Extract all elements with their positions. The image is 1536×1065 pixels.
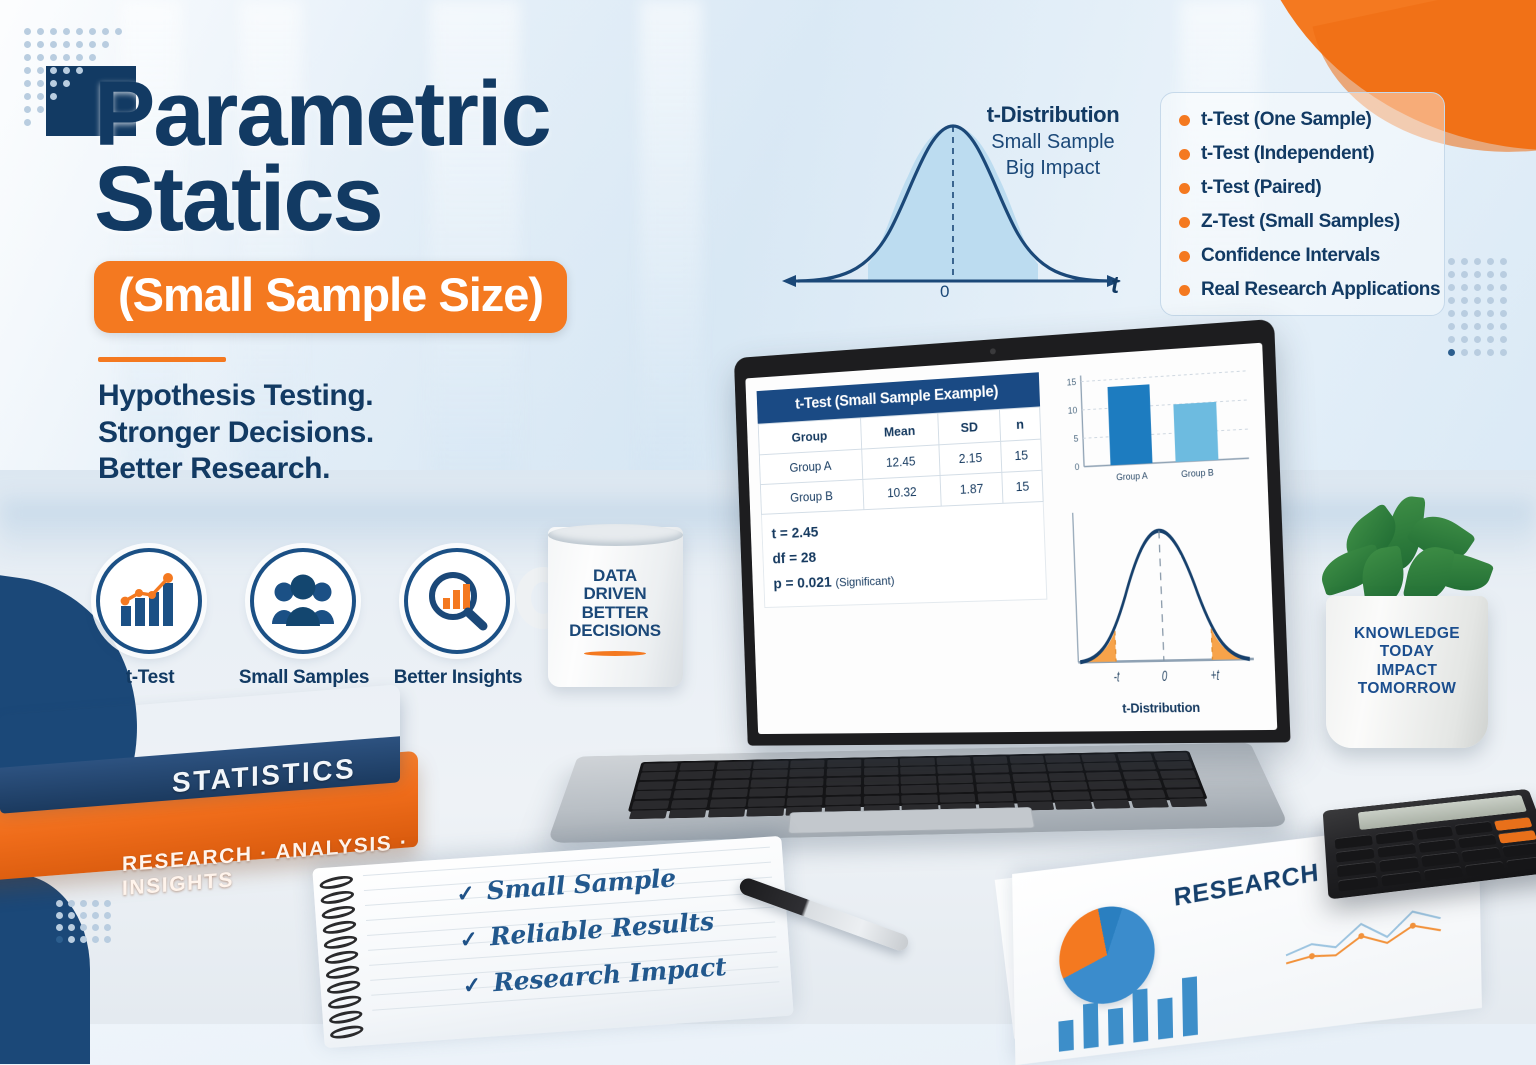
key[interactable] — [864, 776, 899, 785]
key[interactable] — [826, 777, 861, 786]
potted-plant: KNOWLEDGE TODAY IMPACT TOMORROW — [1300, 500, 1510, 770]
dot — [104, 912, 111, 919]
key[interactable] — [977, 793, 1014, 802]
cell-sd: 1.87 — [941, 472, 1003, 506]
key[interactable] — [1015, 792, 1052, 801]
key[interactable] — [748, 798, 785, 807]
report-bar — [1058, 1020, 1073, 1052]
key[interactable] — [1014, 782, 1051, 791]
stat-p-value: p = 0.021 (Significant) — [773, 567, 1040, 593]
dot — [1474, 258, 1481, 265]
key[interactable] — [670, 799, 708, 808]
key[interactable] — [1090, 790, 1128, 799]
dot — [1474, 297, 1481, 304]
spiral-ring — [319, 874, 355, 892]
calculator-key[interactable] — [1455, 821, 1493, 835]
cell-mean: 10.32 — [862, 475, 941, 509]
key[interactable] — [746, 807, 783, 816]
key[interactable] — [863, 795, 899, 804]
dot — [1461, 297, 1468, 304]
t-test-table: Group Mean SD n Group A 12.45 2.15 — [758, 406, 1044, 514]
key[interactable] — [864, 758, 898, 766]
spiral-ring — [326, 978, 362, 996]
dot — [1448, 271, 1455, 278]
spiral-ring — [320, 889, 356, 907]
hero-chart-zero-tick: 0 — [940, 282, 949, 302]
column-header: SD — [938, 409, 1000, 444]
key[interactable] — [753, 761, 788, 769]
dot — [89, 28, 96, 35]
dot — [1487, 336, 1494, 343]
orange-divider — [98, 357, 226, 362]
calculator-key[interactable] — [1337, 861, 1376, 877]
key[interactable] — [752, 770, 788, 778]
feature-list-item[interactable]: Real Research Applications — [1179, 279, 1432, 301]
laptop-base — [547, 743, 1289, 843]
dot — [76, 54, 83, 61]
key[interactable] — [1053, 791, 1090, 800]
key[interactable] — [634, 790, 672, 799]
bullet-icon — [1179, 251, 1190, 262]
dot — [115, 28, 122, 35]
tick-pos-t: +t — [1210, 666, 1220, 684]
dot — [56, 936, 63, 943]
dot — [50, 93, 57, 100]
dot — [102, 28, 109, 35]
column-header: Mean — [860, 413, 939, 449]
key[interactable] — [711, 789, 748, 798]
feature-label: t-Test (One Sample) — [1201, 109, 1371, 131]
group-comparison-bar-chart: 15 10 5 0 Group A Group B — [1049, 358, 1255, 498]
calculator-key[interactable] — [1375, 830, 1413, 844]
svg-text:Group B: Group B — [1181, 467, 1214, 480]
key[interactable] — [974, 765, 1010, 773]
report-bar — [1132, 988, 1148, 1042]
dot — [50, 67, 57, 74]
dot — [24, 106, 31, 113]
key[interactable] — [975, 774, 1011, 783]
checklist-label: Reliable Results — [489, 907, 715, 952]
icon-label: Small Samples — [228, 667, 380, 689]
key[interactable] — [1117, 753, 1153, 761]
check-icon: ✓ — [462, 972, 482, 999]
dot — [76, 67, 83, 74]
feature-label: Real Research Applications — [1201, 279, 1440, 301]
key[interactable] — [939, 793, 975, 802]
dot — [56, 900, 63, 907]
feature-list-item[interactable]: t-Test (Independent) — [1179, 143, 1432, 165]
key[interactable] — [1010, 764, 1046, 772]
key[interactable] — [1045, 755, 1081, 763]
svg-text:0: 0 — [1074, 461, 1079, 472]
key[interactable] — [1156, 761, 1193, 769]
dot — [24, 28, 31, 35]
notebook-checklist: ✓ Small Sample ✓ Reliable Results ✓ Rese… — [455, 860, 728, 1016]
dot — [104, 900, 111, 907]
dot — [1500, 284, 1507, 291]
dot — [1474, 271, 1481, 278]
dot — [1461, 284, 1468, 291]
bullet-icon — [1179, 285, 1190, 296]
calculator-key[interactable] — [1377, 843, 1416, 858]
laptop-lid: t-Test (Small Sample Example) Group Mean… — [734, 319, 1291, 746]
dot — [1500, 258, 1507, 265]
dot — [56, 924, 63, 931]
key[interactable] — [1166, 789, 1204, 798]
calculator-key[interactable] — [1461, 847, 1501, 862]
spiral-ring — [325, 963, 361, 981]
key[interactable] — [749, 788, 786, 797]
key[interactable] — [864, 767, 899, 775]
feature-label: Confidence Intervals — [1201, 245, 1380, 267]
key[interactable] — [714, 770, 750, 778]
dot — [68, 912, 75, 919]
dot — [24, 80, 31, 87]
calculator-key[interactable] — [1498, 829, 1536, 843]
calculator-key[interactable] — [1418, 838, 1457, 853]
pot-line-1: KNOWLEDGE — [1338, 625, 1476, 643]
key[interactable] — [632, 800, 670, 809]
page-title: Parametric Statics — [94, 72, 814, 241]
key[interactable] — [1009, 755, 1044, 763]
dot — [80, 912, 87, 919]
dot — [76, 41, 83, 48]
bullet-icon — [1179, 115, 1190, 126]
bullet-icon — [1179, 217, 1190, 228]
bullet-icon — [1179, 183, 1190, 194]
dot — [92, 924, 99, 931]
dot — [63, 54, 70, 61]
stat-p-number: p = 0.021 — [773, 574, 832, 592]
feature-list-item[interactable]: t-Test (Paired) — [1179, 177, 1432, 199]
key[interactable] — [825, 796, 861, 805]
cell-group: Group B — [760, 479, 863, 514]
key[interactable] — [900, 767, 935, 775]
key[interactable] — [1120, 762, 1157, 770]
calculator-key[interactable] — [1465, 861, 1506, 877]
key[interactable] — [1086, 772, 1123, 780]
dot — [37, 67, 44, 74]
key[interactable] — [938, 775, 974, 784]
cell-n: 15 — [1001, 439, 1042, 472]
magnifier-bar-chart-icon — [404, 548, 510, 654]
key[interactable] — [825, 786, 861, 795]
spiral-ring — [322, 918, 358, 936]
icon-item-better-insights: Better Insights — [404, 548, 512, 689]
dot — [50, 41, 57, 48]
dot — [1474, 349, 1481, 356]
dot — [92, 936, 99, 943]
calculator-key[interactable] — [1423, 865, 1463, 881]
key[interactable] — [1049, 772, 1085, 780]
notebook: ✓ Small Sample ✓ Reliable Results ✓ Rese… — [312, 836, 793, 1048]
report-bar — [1182, 976, 1198, 1036]
pot-line-4: TOMORROW — [1338, 680, 1476, 698]
t-test-card: t-Test (Small Sample Example) Group Mean… — [757, 372, 1052, 720]
dot — [1448, 310, 1455, 317]
tick-neg-t: -t — [1113, 668, 1120, 686]
key[interactable] — [1047, 763, 1083, 771]
spiral-ring — [323, 933, 359, 951]
key[interactable] — [901, 776, 936, 785]
key[interactable] — [642, 763, 679, 771]
report-bar — [1108, 1008, 1124, 1046]
report-line-chart — [1283, 893, 1463, 973]
key[interactable] — [900, 758, 935, 766]
spiral-ring — [329, 1023, 365, 1041]
icon-label: Better Insights — [382, 667, 534, 689]
calculator-key[interactable] — [1379, 856, 1419, 871]
dot — [1474, 323, 1481, 330]
dot — [68, 924, 75, 931]
dot — [1487, 258, 1494, 265]
dot — [1448, 349, 1455, 356]
dot — [80, 936, 87, 943]
tick-zero: 0 — [1161, 667, 1167, 685]
dot — [63, 41, 70, 48]
report-bar — [1083, 1003, 1099, 1049]
checklist-label: Research Impact — [492, 952, 727, 997]
dot — [37, 106, 44, 113]
dot — [1474, 284, 1481, 291]
key[interactable] — [677, 771, 714, 779]
dot — [76, 28, 83, 35]
key[interactable] — [1131, 799, 1169, 808]
calculator-key[interactable] — [1336, 848, 1375, 863]
dot — [1448, 284, 1455, 291]
dot — [92, 912, 99, 919]
dot — [89, 41, 96, 48]
dot — [1448, 336, 1455, 343]
dot — [104, 924, 111, 931]
key[interactable] — [751, 779, 787, 788]
calculator-key[interactable] — [1502, 842, 1536, 857]
key[interactable] — [787, 787, 823, 796]
laptop-trackpad[interactable] — [788, 807, 1035, 834]
dot — [1461, 336, 1468, 343]
notebook-spiral-rings — [319, 870, 369, 1044]
stat-t-value: t = 2.45 — [771, 514, 1038, 542]
key[interactable] — [937, 766, 972, 774]
dot — [1500, 297, 1507, 304]
key[interactable] — [1128, 789, 1166, 798]
key[interactable] — [827, 759, 862, 767]
spiral-ring — [321, 903, 357, 921]
key[interactable] — [976, 783, 1012, 792]
dot — [1474, 310, 1481, 317]
feature-list-card: t-Test (One Sample) t-Test (Independent)… — [1160, 92, 1445, 316]
key[interactable] — [1083, 763, 1119, 771]
svg-text:Group A: Group A — [1116, 470, 1148, 482]
key[interactable] — [673, 790, 710, 799]
dot — [92, 900, 99, 907]
dot — [68, 900, 75, 907]
feature-list-item[interactable]: Confidence Intervals — [1179, 245, 1432, 267]
dot — [1448, 258, 1455, 265]
svg-text:5: 5 — [1073, 433, 1078, 444]
key[interactable] — [788, 778, 824, 787]
key[interactable] — [707, 808, 745, 817]
key[interactable] — [863, 786, 899, 795]
dot — [1487, 349, 1494, 356]
plant-pot-text: KNOWLEDGE TODAY IMPACT TOMORROW — [1338, 625, 1476, 698]
dot — [1448, 297, 1455, 304]
icon-item-t-test: t-Test — [96, 548, 204, 689]
dot — [1461, 349, 1468, 356]
dot — [1461, 271, 1468, 278]
key[interactable] — [709, 798, 746, 807]
dot — [104, 936, 111, 943]
dot — [37, 54, 44, 61]
icon-label: t-Test — [96, 667, 204, 689]
dot — [1500, 349, 1507, 356]
hero-chart-subtitle-2: Big Impact — [978, 157, 1128, 180]
key[interactable] — [901, 794, 937, 803]
dot — [1487, 271, 1494, 278]
feature-label: t-Test (Paired) — [1201, 177, 1321, 199]
calculator-key[interactable] — [1494, 817, 1532, 831]
calculator-key[interactable] — [1506, 856, 1536, 871]
feature-label: Z-Test (Small Samples) — [1201, 211, 1400, 233]
cell-mean: 12.45 — [861, 445, 940, 480]
dot — [24, 54, 31, 61]
stat-df-value: df = 28 — [772, 540, 1039, 567]
dot — [1487, 310, 1494, 317]
dot — [37, 80, 44, 87]
dot — [1461, 323, 1468, 330]
key[interactable] — [826, 768, 861, 776]
dot — [1500, 323, 1507, 330]
dot — [24, 67, 31, 74]
key[interactable] — [1153, 752, 1189, 760]
key[interactable] — [716, 761, 752, 769]
key[interactable] — [790, 760, 825, 768]
key[interactable] — [1093, 800, 1131, 809]
calculator-key[interactable] — [1415, 825, 1453, 839]
t-dist-svg: -t 0 +t — [1054, 495, 1264, 717]
dot — [80, 900, 87, 907]
sample-size-badge: (Small Sample Size) — [94, 261, 567, 333]
people-group-icon — [250, 548, 356, 654]
checklist-item: ✓ Research Impact — [462, 952, 728, 999]
report-bar — [1158, 998, 1174, 1040]
key[interactable] — [1125, 780, 1162, 789]
t-distribution-rejection-chart: -t 0 +t t-Distribution — [1054, 495, 1264, 717]
spiral-ring — [324, 948, 360, 966]
key[interactable] — [1081, 754, 1117, 762]
hero-chart-subtitle-1: Small Sample — [978, 131, 1128, 154]
key[interactable] — [713, 780, 750, 789]
key[interactable] — [1051, 782, 1088, 791]
hero-chart-caption: t-Distribution Small Sample Big Impact — [978, 102, 1128, 180]
dot — [37, 41, 44, 48]
t-test-statistics: t = 2.45 df = 28 p = 0.021 (Significant) — [761, 502, 1047, 608]
bar-chart-svg: 15 10 5 0 Group A Group B — [1049, 358, 1255, 498]
key[interactable] — [668, 809, 706, 818]
hero-chart-axis-label: t — [1111, 272, 1119, 300]
title-line-2: Statics — [94, 157, 814, 242]
feature-icon-row: t-Test Small Samples Better Ins — [96, 548, 512, 689]
calculator-key[interactable] — [1458, 834, 1497, 848]
key[interactable] — [1159, 770, 1196, 778]
check-icon: ✓ — [459, 926, 479, 953]
dot — [63, 67, 70, 74]
key[interactable] — [1169, 798, 1208, 807]
key[interactable] — [639, 772, 676, 780]
key[interactable] — [1162, 779, 1200, 788]
dot — [56, 912, 63, 919]
dot — [24, 119, 31, 126]
dot — [50, 54, 57, 61]
stat-p-note: (Significant) — [835, 574, 894, 590]
dot — [63, 28, 70, 35]
dot — [1487, 297, 1494, 304]
pot-line-2: TODAY — [1338, 643, 1476, 661]
growth-bar-chart-icon — [96, 548, 202, 654]
dot — [37, 28, 44, 35]
key[interactable] — [901, 785, 937, 794]
feature-list-item[interactable]: t-Test (One Sample) — [1179, 109, 1432, 131]
key[interactable] — [679, 762, 715, 770]
icon-item-small-samples: Small Samples — [250, 548, 358, 689]
dot — [89, 54, 96, 61]
feature-list-item[interactable]: Z-Test (Small Samples) — [1179, 211, 1432, 233]
calculator-key[interactable] — [1420, 852, 1460, 867]
key[interactable] — [939, 784, 975, 793]
bullet-icon — [1179, 149, 1190, 160]
key[interactable] — [1122, 771, 1159, 779]
key[interactable] — [973, 756, 1008, 764]
dot — [1487, 323, 1494, 330]
dot — [68, 936, 75, 943]
dot — [1500, 310, 1507, 317]
svg-text:15: 15 — [1067, 376, 1077, 387]
key[interactable] — [789, 769, 824, 777]
hero-chart-title: t-Distribution — [978, 102, 1128, 128]
webcam-icon — [989, 348, 995, 354]
calculator-key[interactable] — [1338, 875, 1378, 891]
dot — [50, 28, 57, 35]
spiral-ring — [328, 1008, 364, 1026]
spiral-ring — [327, 993, 363, 1011]
laptop: t-Test (Small Sample Example) Group Mean… — [536, 333, 1296, 878]
key[interactable] — [1012, 773, 1048, 782]
check-icon: ✓ — [456, 880, 476, 907]
key[interactable] — [675, 780, 712, 789]
key[interactable] — [1055, 801, 1093, 810]
dot — [37, 93, 44, 100]
hero-t-distribution-chart: t-Distribution Small Sample Big Impact 0… — [778, 96, 1128, 311]
feature-label: t-Test (Independent) — [1201, 143, 1374, 165]
dot — [102, 41, 109, 48]
dot — [1500, 336, 1507, 343]
key[interactable] — [637, 781, 674, 790]
key[interactable] — [629, 810, 668, 819]
calculator-key[interactable] — [1381, 870, 1421, 886]
key[interactable] — [786, 797, 823, 806]
dot — [1461, 258, 1468, 265]
t-dist-caption: t-Distribution — [1061, 700, 1264, 717]
key[interactable] — [1088, 781, 1125, 790]
calculator-key[interactable] — [1335, 834, 1373, 849]
pot-line-3: IMPACT — [1338, 662, 1476, 680]
title-line-1: Parametric — [94, 72, 814, 157]
key[interactable] — [936, 757, 971, 765]
dot — [1487, 284, 1494, 291]
dot — [1461, 310, 1468, 317]
laptop-keyboard[interactable] — [628, 751, 1208, 812]
dot — [24, 93, 31, 100]
